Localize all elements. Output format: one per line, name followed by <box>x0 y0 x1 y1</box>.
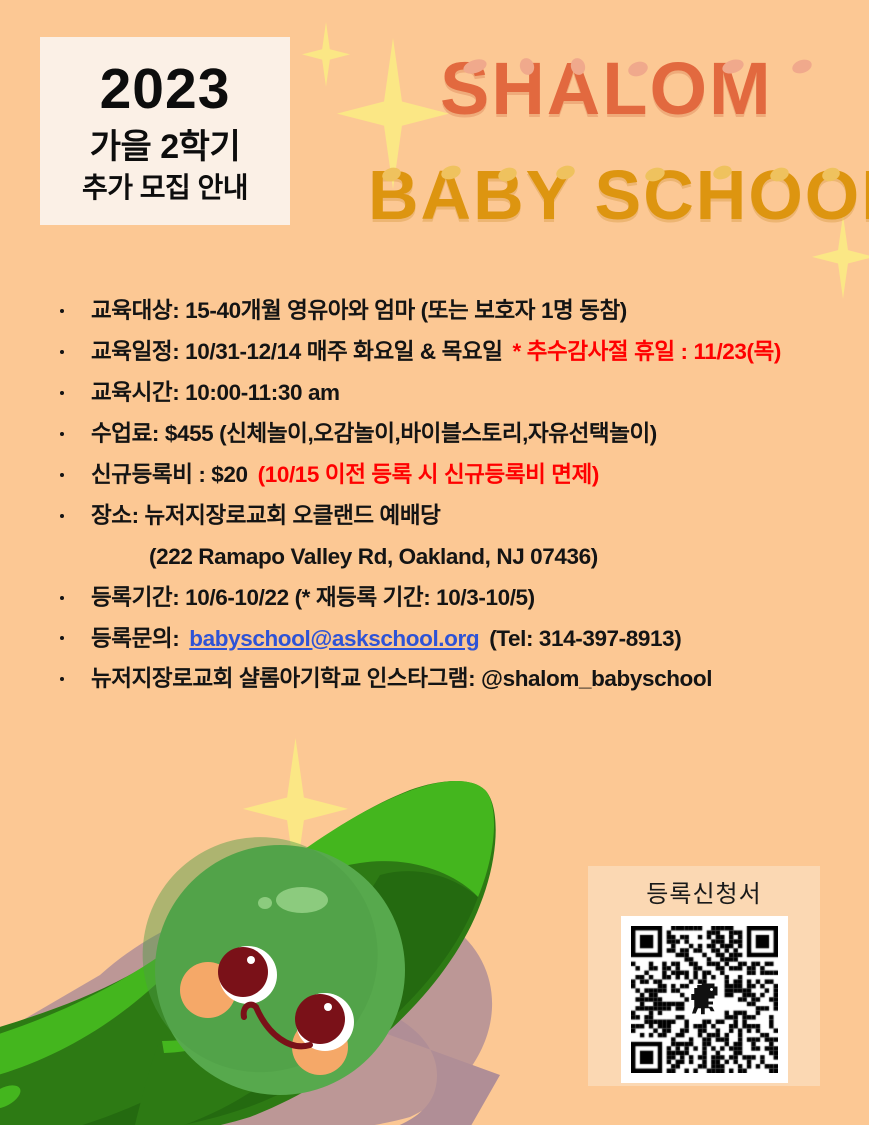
bullet-marker-icon <box>60 309 64 313</box>
info-text: * 추수감사절 휴일 : 11/23(목) <box>513 339 782 364</box>
bullet-marker-icon <box>60 391 64 395</box>
year-badge: 2023 가을 2학기 추가 모집 안내 <box>40 37 290 225</box>
eye-right-glint <box>324 1003 332 1011</box>
info-text: 교육일정: 10/31-12/14 매주 화요일 & 목요일 <box>91 339 503 364</box>
bullet-marker-icon <box>60 432 64 436</box>
bullet-marker-icon <box>60 677 64 681</box>
dinosaur-icon <box>687 982 721 1018</box>
info-row-instagram: 뉴저지장로교회 샬롬아기학교 인스타그램: @shalom_babyschool <box>55 663 855 695</box>
info-row-class-time: 교육시간: 10:00-11:30 am <box>55 377 855 409</box>
eye-right-pupil <box>295 994 345 1044</box>
eye-left-glint <box>247 956 255 964</box>
qr-code[interactable] <box>621 916 788 1083</box>
bullet-marker-icon <box>60 473 64 477</box>
qr-panel-title: 등록신청서 <box>646 874 761 909</box>
info-text: 신규등록비 : $20 <box>91 462 248 487</box>
info-text: 교육시간: 10:00-11:30 am <box>91 380 340 405</box>
qr-registration-panel[interactable]: 등록신청서 <box>588 866 820 1086</box>
info-text: (Tel: 314-397-8913) <box>489 626 681 651</box>
info-row-tuition: 수업료: $455 (신체놀이,오감놀이,바이블스토리,자유선택놀이) <box>55 418 855 450</box>
info-text: 등록문의: <box>91 626 179 651</box>
info-row-schedule: 교육일정: 10/31-12/14 매주 화요일 & 목요일* 추수감사절 휴일… <box>55 336 855 368</box>
brand-line-shalom: SHALOM <box>440 52 773 126</box>
info-row-registration-period: 등록기간: 10/6-10/22 (* 재등록 기간: 10/3-10/5) <box>55 582 855 614</box>
email-link[interactable]: babyschool@askschool.org <box>189 626 479 651</box>
bullet-marker-icon <box>60 514 64 518</box>
year-label: 2023 <box>100 61 231 118</box>
info-text: 등록기간: 10/6-10/22 (* 재등록 기간: 10/3-10/5) <box>91 585 535 610</box>
gloss-highlight-icon <box>790 57 813 76</box>
info-row-contact: 등록문의:babyschool@askschool.org(Tel: 314-3… <box>55 623 855 655</box>
info-text: 교육대상: 15-40개월 영유아와 엄마 (또는 보호자 1명 동참) <box>91 298 627 323</box>
pea-pod-mascot <box>0 745 540 1125</box>
info-text: 장소: 뉴저지장로교회 오클랜드 예배당 <box>91 503 440 528</box>
info-text: (222 Ramapo Valley Rd, Oakland, NJ 07436… <box>149 544 598 569</box>
subtitle-label: 추가 모집 안내 <box>82 170 248 205</box>
info-row-target-audience: 교육대상: 15-40개월 영유아와 엄마 (또는 보호자 1명 동참) <box>55 295 855 327</box>
brand-wordmark: SHALOM BABY SCHOOL <box>330 40 869 240</box>
pea-shine-large <box>276 887 328 913</box>
info-text: 수업료: $455 (신체놀이,오감놀이,바이블스토리,자유선택놀이) <box>91 421 657 446</box>
bullet-marker-icon <box>60 596 64 600</box>
info-row-location: 장소: 뉴저지장로교회 오클랜드 예배당 <box>55 500 855 532</box>
info-text: (10/15 이전 등록 시 신규등록비 면제) <box>258 462 599 487</box>
eye-left-pupil <box>218 947 268 997</box>
info-row-registration-fee: 신규등록비 : $20(10/15 이전 등록 시 신규등록비 면제) <box>55 459 855 491</box>
brand-line-baby-school: BABY SCHOOL <box>368 160 869 230</box>
info-text: 뉴저지장로교회 샬롬아기학교 인스타그램: @shalom_babyschool <box>91 666 712 691</box>
bullet-marker-icon <box>60 636 64 640</box>
bullet-marker-icon <box>60 350 64 354</box>
term-label: 가을 2학기 <box>90 127 240 167</box>
poster-canvas: 2023 가을 2학기 추가 모집 안내 SHALOM BABY SCHOOL … <box>0 0 869 1125</box>
info-list: 교육대상: 15-40개월 영유아와 엄마 (또는 보호자 1명 동참)교육일정… <box>55 295 855 704</box>
info-row-address: (222 Ramapo Valley Rd, Oakland, NJ 07436… <box>55 541 855 573</box>
pea-shine-small <box>258 897 272 909</box>
